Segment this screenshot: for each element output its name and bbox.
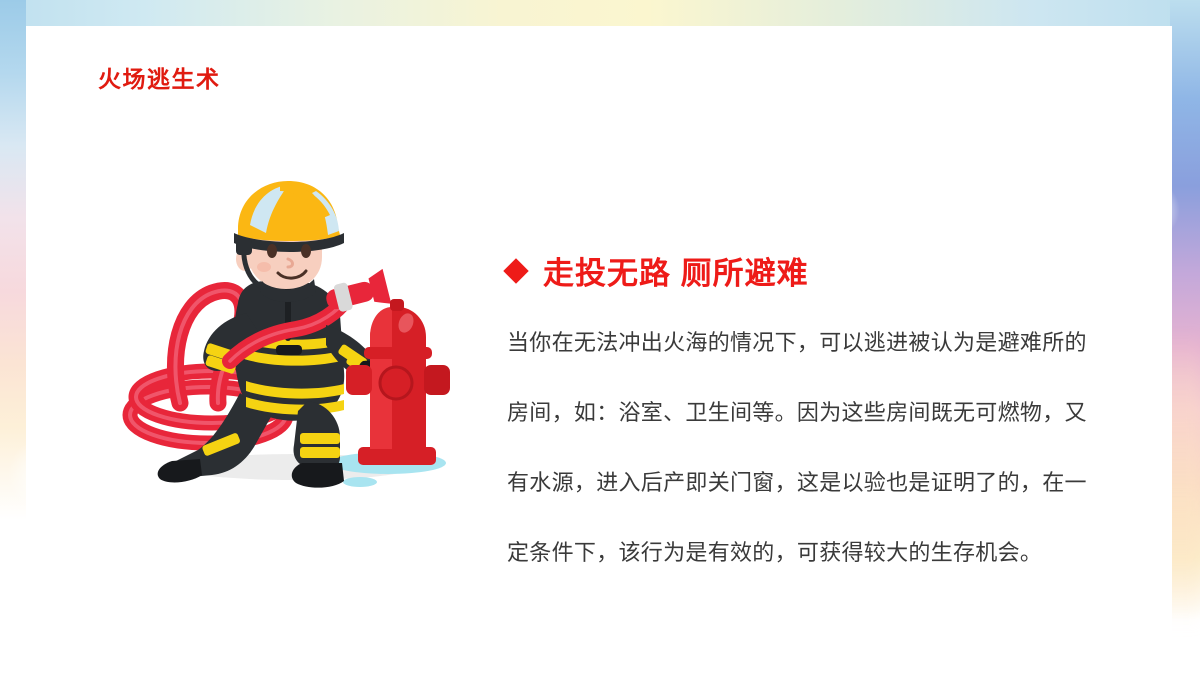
body-text-line: 房间，如：浴室、卫生间等。因为这些房间既无可燃物，又 <box>507 389 1117 437</box>
page-title: 火场逃生术 <box>98 60 221 94</box>
top-gradient-edge <box>0 0 1200 26</box>
section-heading-text: 走投无路 厕所避难 <box>543 248 809 293</box>
slide-canvas: 火场逃生术 <box>0 0 1200 675</box>
left-gradient-edge <box>0 0 26 520</box>
firefighter-illustration <box>120 175 480 515</box>
body-text-line: 定条件下，该行为是有效的，可获得较大的生存机会。 <box>507 529 1117 577</box>
content-column: 走投无路 厕所避难 当你在无法冲出火海的情况下，可以逃进被认为是避难所的 房间，… <box>507 248 1117 599</box>
right-gradient-edge <box>1170 0 1200 620</box>
diamond-bullet-icon <box>503 258 528 283</box>
body-text-line: 有水源，进入后产即关门窗，这是以验也是证明了的，在一 <box>507 459 1117 507</box>
body-text-line: 当你在无法冲出火海的情况下，可以逃进被认为是避难所的 <box>507 319 1117 367</box>
section-heading: 走投无路 厕所避难 <box>507 248 1117 293</box>
